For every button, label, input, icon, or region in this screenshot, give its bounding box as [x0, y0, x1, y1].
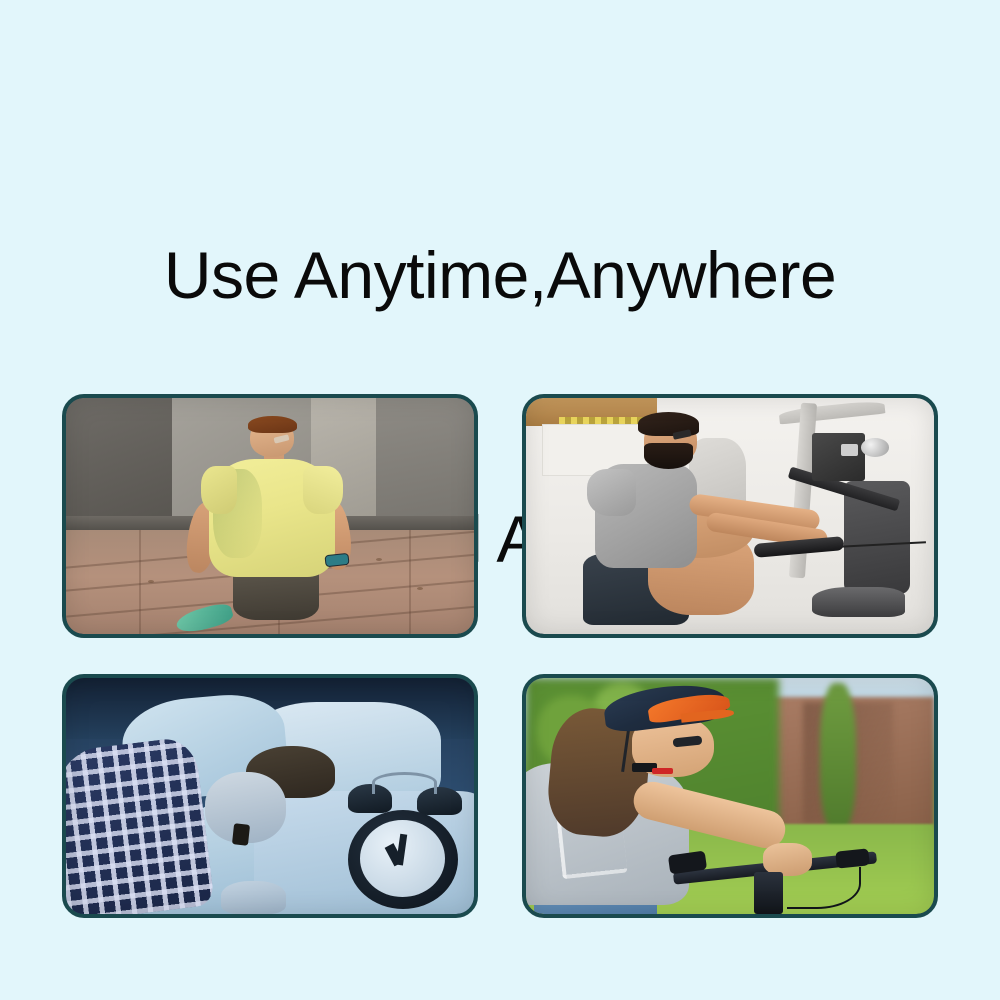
gym-rowing-photo: [526, 398, 934, 634]
activity-image-grid: [62, 394, 938, 918]
cycling-photo: [526, 678, 934, 914]
activity-card-sleeping: [62, 674, 478, 918]
promo-page: Use Anytime,Anywhere For All Activity: [0, 0, 1000, 1000]
rower-sleeve: [587, 469, 636, 516]
activity-card-cycling: [522, 674, 938, 918]
sleeper-hand: [221, 881, 286, 914]
runner-right-sleeve: [303, 466, 344, 513]
wall-right: [376, 398, 474, 533]
runner-hair: [248, 416, 297, 434]
running-photo: [66, 398, 474, 634]
paving-line: [139, 530, 141, 634]
machine-seat-base: [812, 587, 906, 618]
paving-line: [409, 530, 411, 634]
nasal-dilator-icon: [232, 824, 250, 847]
wall-left: [66, 398, 180, 530]
background-tree: [820, 683, 857, 834]
plaid-pajama-sleeve: [66, 736, 215, 914]
alarm-clock-handle: [372, 772, 437, 793]
helmet-strap-tab: [652, 768, 672, 774]
handlebar-stem: [754, 872, 783, 914]
page-title-line-1: Use Anytime,Anywhere: [0, 231, 1000, 319]
runner-left-sleeve: [201, 466, 238, 513]
fallen-leaf: [148, 580, 154, 583]
sleeping-photo: [66, 678, 474, 914]
activity-card-gym-rowing: [522, 394, 938, 638]
fallen-leaf: [417, 587, 423, 590]
rower-beard: [644, 443, 693, 469]
machine-weight-stack: [812, 433, 865, 480]
activity-card-running: [62, 394, 478, 638]
machine-adjust-knob: [861, 438, 890, 457]
sports-watch-icon: [325, 553, 351, 567]
